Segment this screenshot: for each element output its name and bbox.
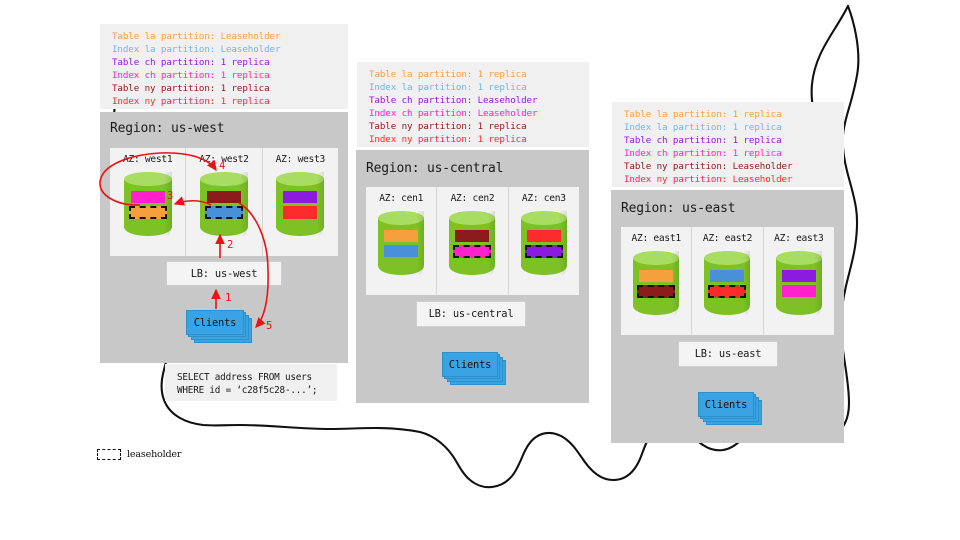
step-number-2: 2 (227, 239, 233, 251)
arrow-step-4 (100, 153, 216, 205)
step-number-5: 5 (266, 320, 272, 332)
query-flow-arrows (0, 0, 960, 540)
diagram-canvas: Table la partition: Leaseholder Index la… (0, 0, 960, 540)
arrow-step-5 (239, 203, 268, 327)
arrow-step-3 (175, 201, 211, 205)
step-number-4: 4 (219, 160, 225, 172)
step-number-1: 1 (225, 292, 231, 304)
step-number-3: 3 (167, 190, 173, 202)
